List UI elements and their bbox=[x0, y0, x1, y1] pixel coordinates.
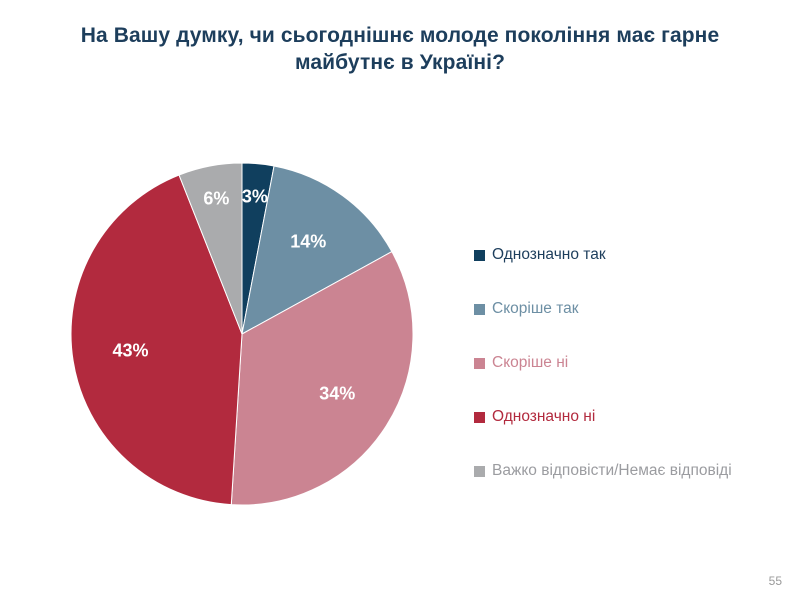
legend-item-label: Скоріше так bbox=[492, 300, 579, 318]
legend-item[interactable]: Скоріше ні bbox=[474, 336, 794, 390]
legend-item[interactable]: Однозначно ні bbox=[474, 390, 794, 444]
legend-swatch-icon bbox=[474, 358, 485, 369]
legend-swatch-icon bbox=[474, 250, 485, 261]
pie-chart-svg: 3%14%34%43%6% bbox=[60, 150, 430, 520]
legend-item[interactable]: Скоріше так bbox=[474, 282, 794, 336]
pie-data-label: 6% bbox=[203, 188, 229, 208]
pie-chart: 3%14%34%43%6% bbox=[60, 150, 430, 520]
pie-data-label: 14% bbox=[290, 231, 326, 251]
pie-data-label: 3% bbox=[242, 187, 268, 207]
slide-canvas: На Вашу думку, чи сьогоднішнє молоде пок… bbox=[0, 0, 800, 600]
legend-item[interactable]: Однозначно так bbox=[474, 228, 794, 282]
chart-legend: Однозначно такСкоріше такСкоріше ніОдноз… bbox=[474, 228, 794, 498]
pie-data-label: 43% bbox=[112, 340, 148, 360]
page-title: На Вашу думку, чи сьогоднішнє молоде пок… bbox=[40, 22, 760, 76]
pie-slice-group bbox=[71, 163, 413, 505]
legend-swatch-icon bbox=[474, 466, 485, 477]
legend-item-label: Однозначно ні bbox=[492, 408, 595, 426]
pie-data-label: 34% bbox=[319, 383, 355, 403]
legend-item-label: Однозначно так bbox=[492, 246, 606, 264]
page-number: 55 bbox=[769, 574, 782, 588]
legend-item[interactable]: Важко відповісти/Немає відповіді bbox=[474, 444, 794, 498]
legend-swatch-icon bbox=[474, 304, 485, 315]
page-title-line-1: На Вашу думку, чи сьогоднішнє молоде пок… bbox=[40, 22, 760, 49]
legend-swatch-icon bbox=[474, 412, 485, 423]
legend-item-label: Важко відповісти/Немає відповіді bbox=[492, 462, 732, 480]
page-title-line-2: майбутнє в Україні? bbox=[40, 49, 760, 76]
legend-item-label: Скоріше ні bbox=[492, 354, 568, 372]
